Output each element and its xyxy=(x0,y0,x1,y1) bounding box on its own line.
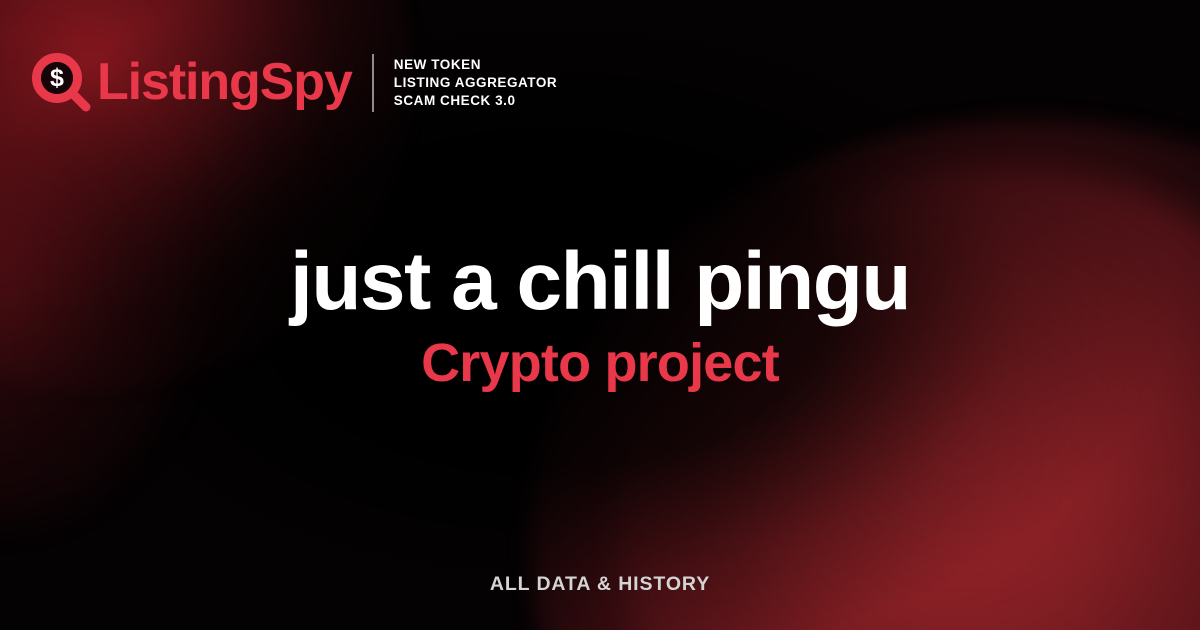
tagline-line-1: NEW TOKEN xyxy=(394,57,557,73)
brand-tagline: NEW TOKEN LISTING AGGREGATOR SCAM CHECK … xyxy=(394,57,557,109)
hero-block: just a chill pingu Crypto project xyxy=(0,236,1200,394)
svg-text:$: $ xyxy=(50,64,64,92)
magnifier-dollar-icon: $ xyxy=(32,53,92,113)
page-title: just a chill pingu xyxy=(60,236,1140,328)
footer-block: ALL DATA & HISTORY xyxy=(0,573,1200,596)
brand-divider xyxy=(372,54,374,112)
page-subtitle: Crypto project xyxy=(60,332,1140,394)
brand-wordmark: ListingSpy xyxy=(97,56,352,108)
tagline-line-3: SCAM CHECK 3.0 xyxy=(394,93,557,109)
footer-caption: ALL DATA & HISTORY xyxy=(490,573,710,595)
brand-header[interactable]: $ ListingSpy NEW TOKEN LISTING AGGREGATO… xyxy=(32,53,557,113)
tagline-line-2: LISTING AGGREGATOR xyxy=(394,75,557,91)
og-card: $ ListingSpy NEW TOKEN LISTING AGGREGATO… xyxy=(0,0,1200,630)
